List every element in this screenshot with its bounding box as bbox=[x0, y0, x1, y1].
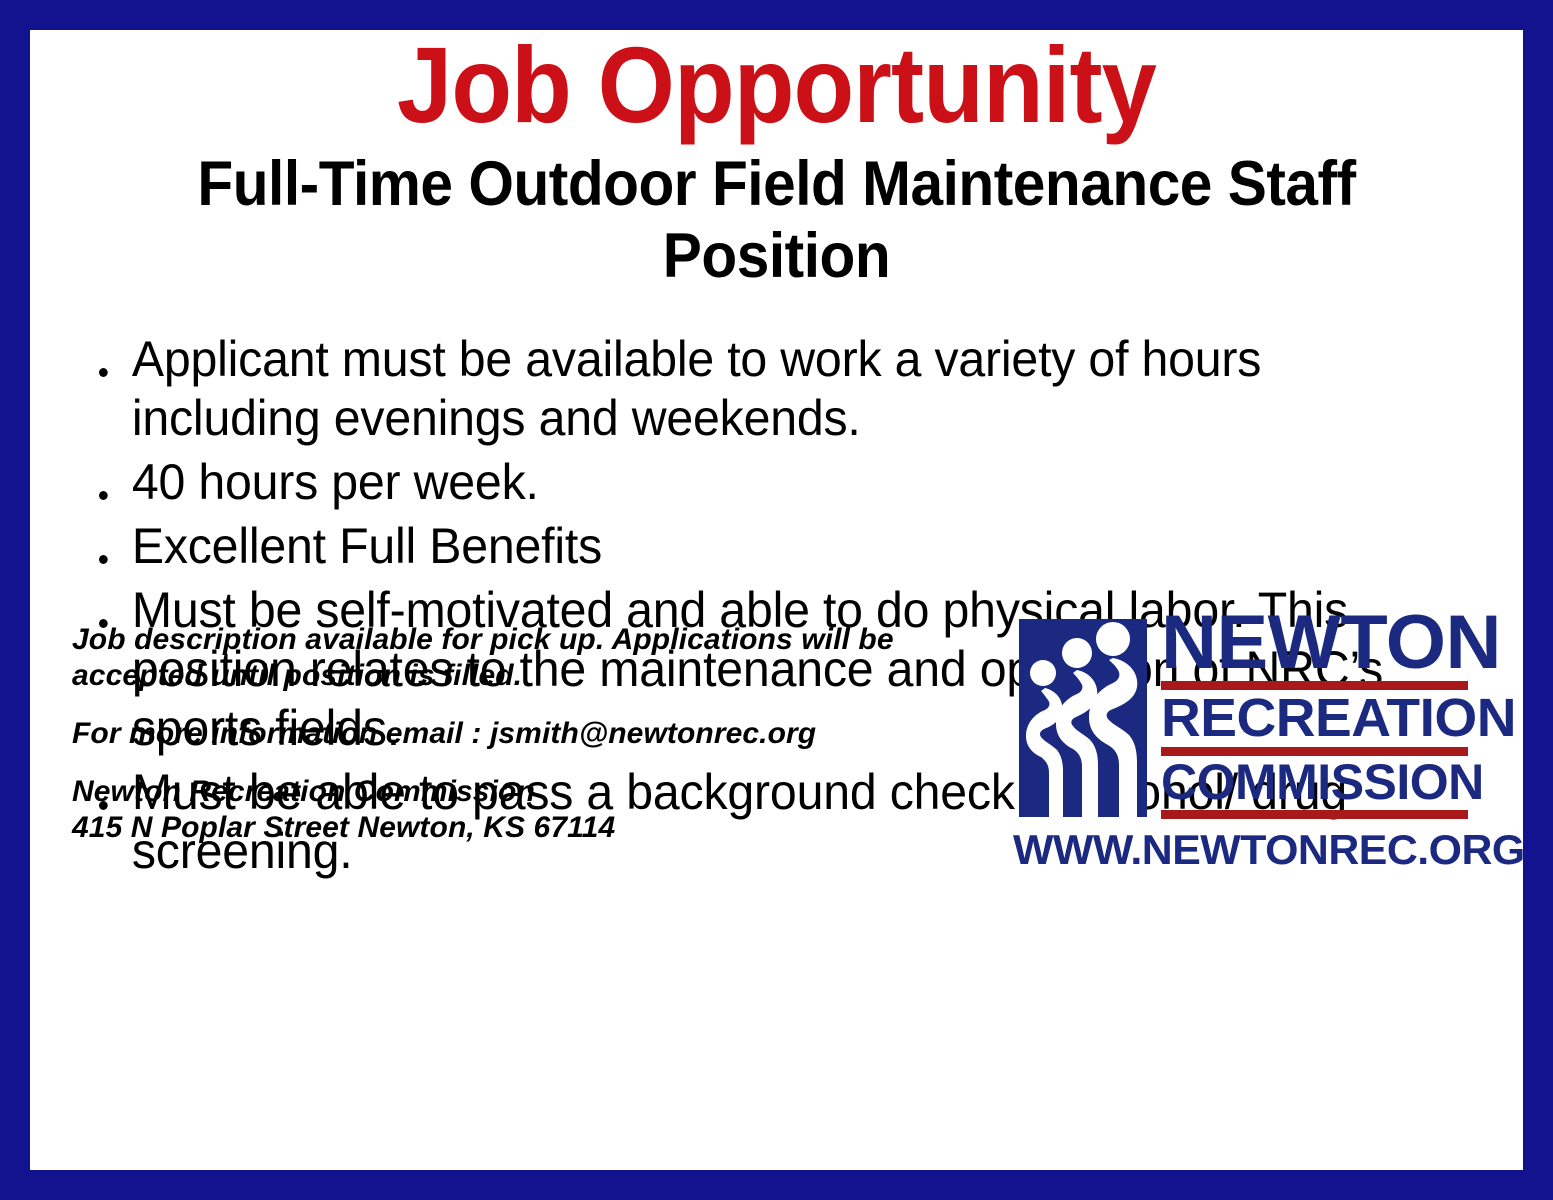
list-item: 40 hours per week. bbox=[72, 453, 1423, 512]
logo-line-commission: COMMISSION bbox=[1161, 757, 1484, 807]
list-item-label: Applicant must be available to work a va… bbox=[132, 331, 1261, 446]
page-subtitle: Full-Time Outdoor Field Maintenance Staf… bbox=[119, 148, 1433, 292]
bullet-dot-icon bbox=[99, 368, 108, 377]
logo-divider-bar bbox=[1161, 810, 1468, 819]
logo-line-newton: NEWTON bbox=[1161, 605, 1501, 681]
bullet-dot-icon bbox=[99, 555, 108, 564]
organization-address-text: 415 N Poplar Street Newton, KS 67114 bbox=[72, 810, 1032, 846]
logo-line-recreation: RECREATION bbox=[1161, 691, 1516, 745]
newton-recreation-commission-logo: NEWTON RECREATION COMMISSION WWW.NEWTONR… bbox=[1013, 605, 1468, 870]
contact-email-text[interactable]: For more information email : jsmith@newt… bbox=[72, 716, 1032, 752]
list-item: Excellent Full Benefits bbox=[72, 517, 1423, 576]
flyer-content-area: Job Opportunity Full-Time Outdoor Field … bbox=[30, 30, 1523, 1170]
logo-website-url[interactable]: WWW.NEWTONREC.ORG bbox=[1013, 827, 1477, 873]
list-item-label: 40 hours per week. bbox=[132, 454, 539, 510]
page-title: Job Opportunity bbox=[90, 30, 1464, 144]
flyer-border-frame: Job Opportunity Full-Time Outdoor Field … bbox=[0, 0, 1553, 1200]
organization-name-text: Newton Recreation Commission bbox=[72, 774, 1032, 810]
bullet-dot-icon bbox=[99, 491, 108, 500]
footer-info-block: Job description available for pick up. A… bbox=[72, 622, 1032, 846]
list-item: Applicant must be available to work a va… bbox=[72, 330, 1423, 448]
list-item-label: Excellent Full Benefits bbox=[132, 518, 602, 574]
logo-figures-mark-icon bbox=[1013, 605, 1153, 823]
application-availability-text: Job description available for pick up. A… bbox=[72, 622, 1032, 694]
logo-wordmark: NEWTON RECREATION COMMISSION bbox=[1161, 605, 1468, 823]
logo-top-row: NEWTON RECREATION COMMISSION bbox=[1013, 605, 1468, 823]
